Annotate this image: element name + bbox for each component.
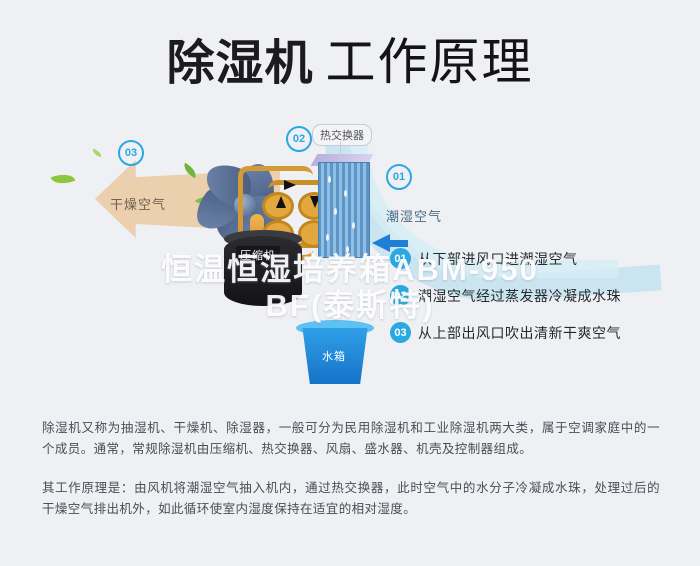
step-item: 03 从上部出风口吹出清新干爽空气 bbox=[390, 322, 690, 343]
flow-arrow-right-icon bbox=[284, 180, 296, 190]
step-item: 02 潮湿空气经过蒸发器冷凝成水珠 bbox=[390, 285, 690, 306]
step-number-badge: 01 bbox=[390, 248, 411, 269]
article-body: 除湿机又称为抽湿机、干燥机、除湿器，一般可分为民用除湿机和工业除湿机两大类，属于… bbox=[42, 418, 660, 528]
leaf-icon bbox=[91, 149, 102, 158]
compressor-label: 压缩机 bbox=[236, 246, 280, 264]
water-tank-label: 水箱 bbox=[322, 348, 346, 364]
page-title-bold: 除湿机 bbox=[166, 37, 313, 90]
body-paragraph-2: 其工作原理是：由风机将潮湿空气抽入机内，通过热交换器，此时空气中的水分子冷凝成水… bbox=[42, 478, 660, 520]
step-text: 潮湿空气经过蒸发器冷凝成水珠 bbox=[418, 286, 621, 306]
diagram-badge-03: 03 bbox=[118, 140, 144, 166]
steps-list: 01 从下部进风口进潮湿空气 02 潮湿空气经过蒸发器冷凝成水珠 03 从上部出… bbox=[390, 248, 690, 359]
diagram-badge-01: 01 bbox=[386, 164, 412, 190]
step-text: 从上部出风口吹出清新干爽空气 bbox=[418, 323, 621, 343]
heat-exchanger-block bbox=[318, 162, 370, 258]
step-item: 01 从下部进风口进潮湿空气 bbox=[390, 248, 690, 269]
body-paragraph-1: 除湿机又称为抽湿机、干燥机、除湿器，一般可分为民用除湿机和工业除湿机两大类，属于… bbox=[42, 418, 660, 460]
page-title: 除湿机工作原理 bbox=[0, 22, 700, 94]
leaf-icon bbox=[51, 169, 76, 188]
step-number-badge: 02 bbox=[390, 285, 411, 306]
humid-air-label: 潮湿空气 bbox=[386, 206, 442, 225]
heat-exchanger-callout: 热交换器 bbox=[312, 124, 372, 146]
step-number-badge: 03 bbox=[390, 322, 411, 343]
step-text: 从下部进风口进潮湿空气 bbox=[418, 249, 578, 269]
infographic-page: 除湿机工作原理 干燥空气 03 bbox=[0, 0, 700, 566]
flow-arrow-up-icon bbox=[276, 196, 286, 208]
diagram-badge-02: 02 bbox=[286, 126, 312, 152]
humid-air-inlet-arrow-tail bbox=[388, 240, 408, 247]
dry-air-label: 干燥空气 bbox=[110, 194, 166, 213]
page-title-light: 工作原理 bbox=[326, 34, 534, 90]
callout-stem bbox=[340, 142, 341, 158]
